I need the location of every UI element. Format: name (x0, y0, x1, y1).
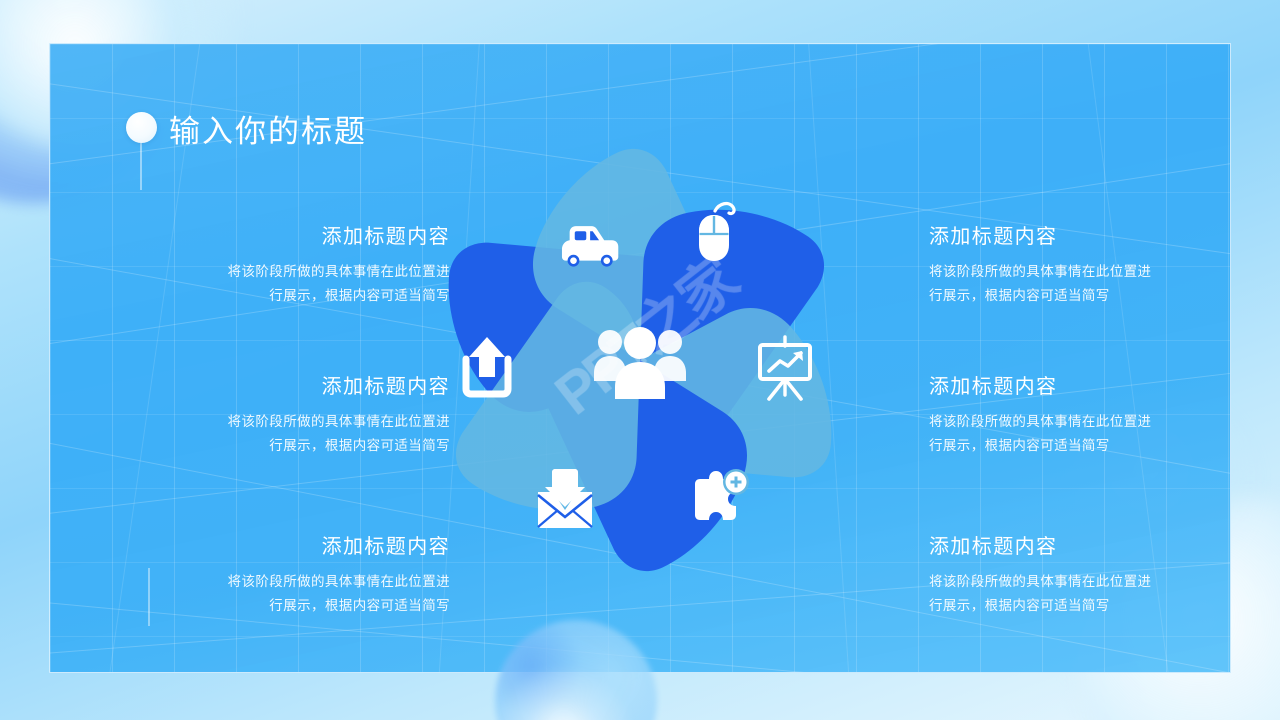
page-title: 输入你的标题 (169, 106, 367, 151)
text-block-right-bottom: 添加标题内容 将该阶段所做的具体事情在此位置进 行展示，根据内容可适当简写 (929, 530, 1231, 618)
text-block-body-line: 将该阶段所做的具体事情在此位置进 (138, 570, 450, 594)
text-block-body-line: 将该阶段所做的具体事情在此位置进 (138, 260, 450, 284)
text-block-left-middle: 添加标题内容 将该阶段所做的具体事情在此位置进 行展示，根据内容可适当简写 (138, 370, 450, 458)
text-block-body-line: 行展示，根据内容可适当简写 (138, 284, 450, 308)
slide-canvas: 输入你的标题 添加标题内容 将该阶段所做的具体事情在此位置进 行展示，根据内容可… (0, 0, 1280, 720)
text-block-body-line: 行展示，根据内容可适当简写 (929, 434, 1231, 458)
title-bullet-icon (126, 112, 157, 143)
text-block-body: 将该阶段所做的具体事情在此位置进 行展示，根据内容可适当简写 (138, 410, 450, 458)
text-block-body-line: 将该阶段所做的具体事情在此位置进 (929, 570, 1231, 594)
text-block-body-line: 行展示，根据内容可适当简写 (138, 434, 450, 458)
text-block-title: 添加标题内容 (929, 220, 1231, 249)
text-block-body-line: 将该阶段所做的具体事情在此位置进 (138, 410, 450, 434)
text-block-right-top: 添加标题内容 将该阶段所做的具体事情在此位置进 行展示，根据内容可适当简写 (929, 220, 1231, 308)
petal-diagram (425, 145, 855, 575)
text-block-title: 添加标题内容 (929, 370, 1231, 399)
text-block-body-line: 行展示，根据内容可适当简写 (929, 594, 1231, 618)
text-block-left-bottom: 添加标题内容 将该阶段所做的具体事情在此位置进 行展示，根据内容可适当简写 (138, 530, 450, 618)
text-block-body-line: 将该阶段所做的具体事情在此位置进 (929, 410, 1231, 434)
text-block-title: 添加标题内容 (138, 530, 450, 559)
text-block-body-line: 将该阶段所做的具体事情在此位置进 (929, 260, 1231, 284)
text-block-body-line: 行展示，根据内容可适当简写 (138, 594, 450, 618)
text-block-title: 添加标题内容 (929, 530, 1231, 559)
text-block-body-line: 行展示，根据内容可适当简写 (929, 284, 1231, 308)
text-block-body: 将该阶段所做的具体事情在此位置进 行展示，根据内容可适当简写 (929, 410, 1231, 458)
text-block-body: 将该阶段所做的具体事情在此位置进 行展示，根据内容可适当简写 (138, 260, 450, 308)
title-stem-line (140, 143, 142, 190)
text-block-body: 将该阶段所做的具体事情在此位置进 行展示，根据内容可适当简写 (929, 570, 1231, 618)
text-block-left-top: 添加标题内容 将该阶段所做的具体事情在此位置进 行展示，根据内容可适当简写 (138, 220, 450, 308)
text-block-body: 将该阶段所做的具体事情在此位置进 行展示，根据内容可适当简写 (138, 570, 450, 618)
text-block-right-middle: 添加标题内容 将该阶段所做的具体事情在此位置进 行展示，根据内容可适当简写 (929, 370, 1231, 458)
text-block-title: 添加标题内容 (138, 220, 450, 249)
text-block-title: 添加标题内容 (138, 370, 450, 399)
text-block-body: 将该阶段所做的具体事情在此位置进 行展示，根据内容可适当简写 (929, 260, 1231, 308)
